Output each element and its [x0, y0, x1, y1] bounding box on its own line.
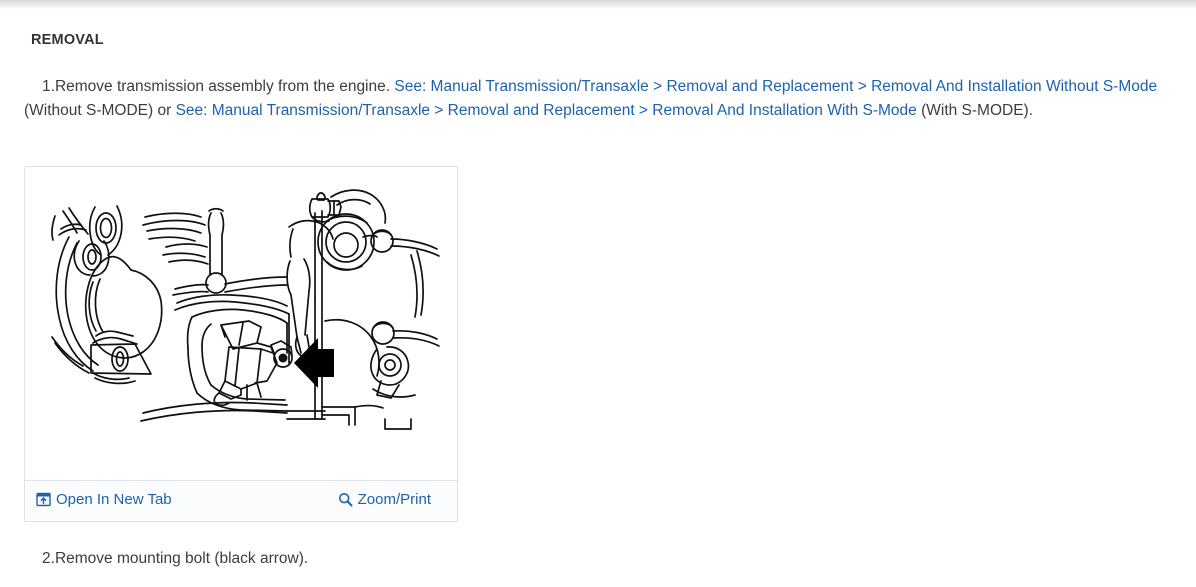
step-text: Remove mounting bolt (black arrow).: [55, 550, 308, 567]
procedure-step-1: 1.Remove transmission assembly from the …: [24, 75, 1186, 123]
magnifier-icon: [338, 492, 353, 507]
transmission-diagram-svg: [25, 167, 457, 480]
browser-chrome-strip: [0, 0, 1196, 9]
open-in-new-tab-button[interactable]: Open In New Tab: [36, 491, 172, 508]
figure-toolbar: Open In New Tab Zoom/Print: [25, 480, 457, 521]
procedure-step-2: 2.Remove mounting bolt (black arrow).: [24, 547, 724, 571]
zoom-print-label: Zoom/Print: [358, 491, 431, 508]
step-text-mid: (Without S-MODE) or: [24, 102, 176, 119]
link-removal-with-s-mode[interactable]: See: Manual Transmission/Transaxle > Rem…: [176, 102, 917, 119]
zoom-print-button[interactable]: Zoom/Print: [338, 491, 431, 508]
step-text-tail: (With S-MODE).: [917, 102, 1033, 119]
page-title: REMOVAL: [31, 32, 104, 48]
step-text-intro: Remove transmission assembly from the en…: [55, 78, 394, 95]
figure-card: Open In New Tab Zoom/Print: [24, 166, 458, 522]
document-page: REMOVAL 1.Remove transmission assembly f…: [0, 9, 1196, 587]
open-in-new-tab-icon: [36, 492, 51, 507]
link-removal-without-s-mode[interactable]: See: Manual Transmission/Transaxle > Rem…: [394, 78, 1157, 95]
figure-image[interactable]: [25, 167, 457, 480]
step-number: 2.: [42, 550, 55, 567]
step-number: 1.: [42, 78, 55, 95]
open-in-new-tab-label: Open In New Tab: [56, 491, 172, 508]
